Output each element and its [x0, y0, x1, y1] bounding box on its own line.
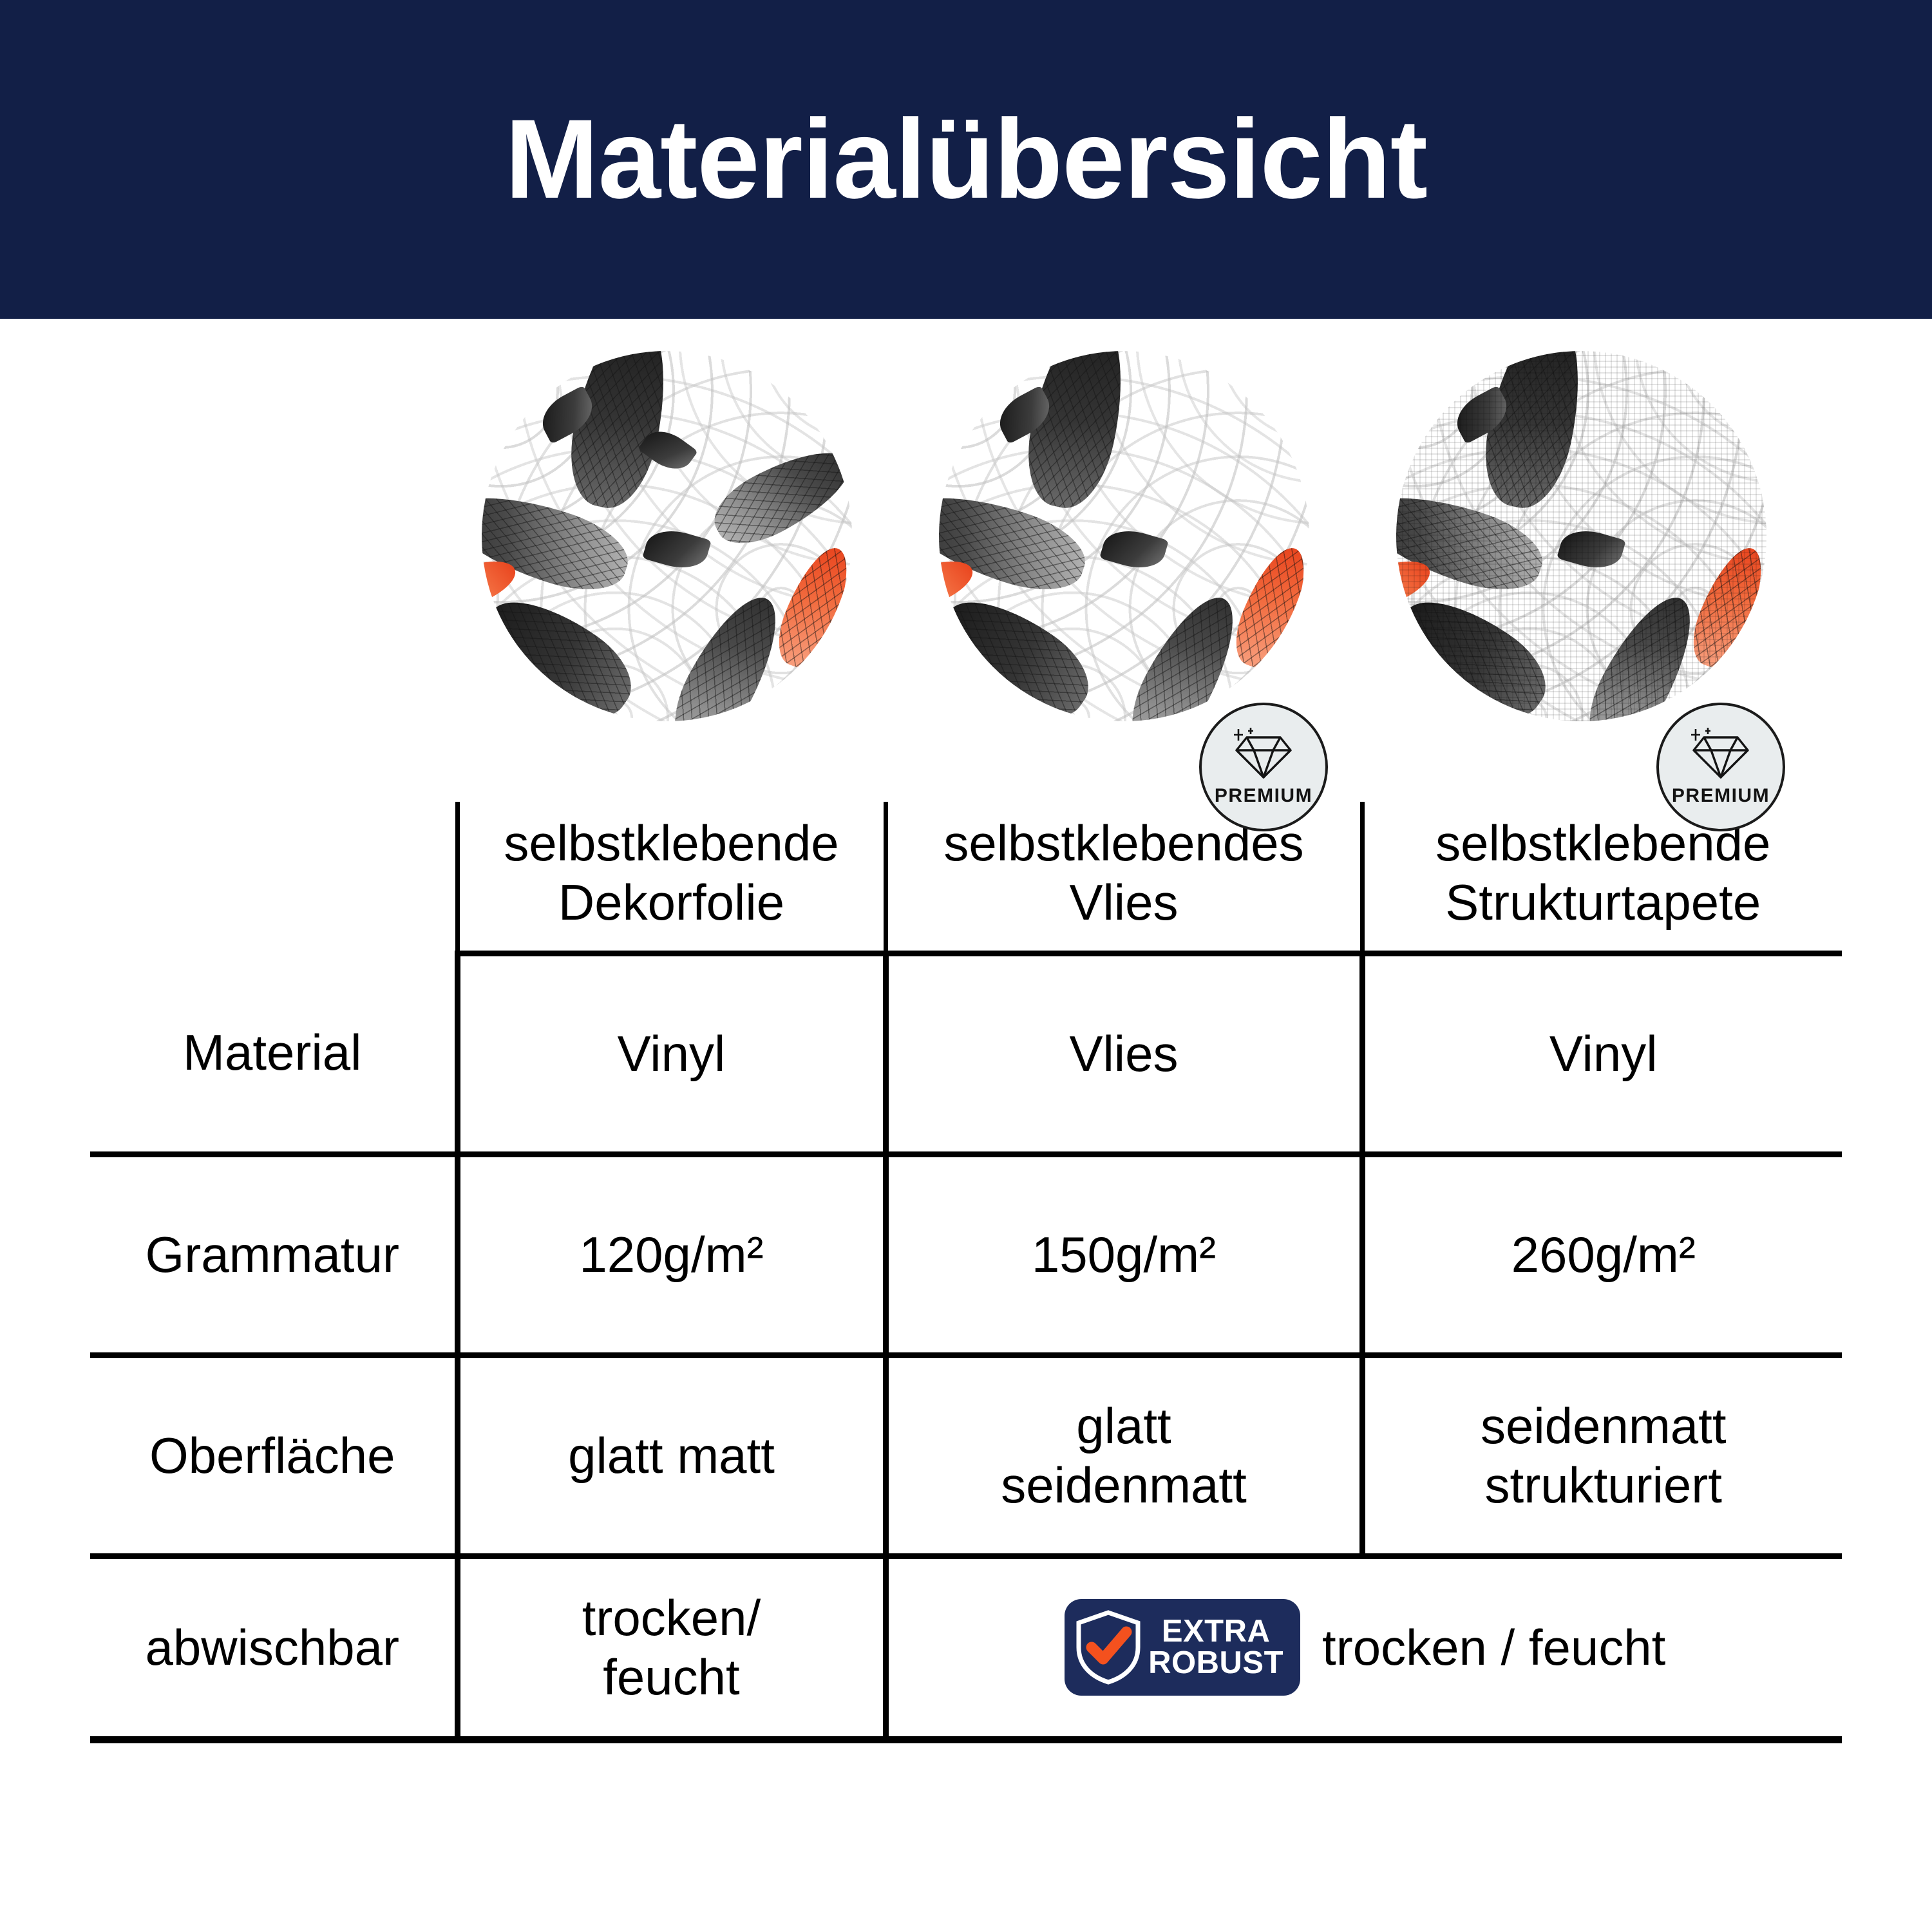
extra-robust-text: EXTRA ROBUST	[1148, 1616, 1283, 1679]
cell-line1: trocken/	[469, 1588, 874, 1647]
diamond-icon	[1233, 727, 1294, 781]
swatch-strukturtapete[interactable]	[1396, 351, 1766, 721]
cell-line1: glatt	[898, 1396, 1350, 1455]
premium-badge-label: PREMIUM	[1672, 785, 1770, 807]
table-row-material: Material Vinyl Vlies Vinyl	[90, 953, 1842, 1154]
cell-line2: seidenmatt	[898, 1455, 1350, 1515]
swatch-vlies[interactable]	[939, 351, 1309, 721]
cell-material-vlies: Vlies	[885, 953, 1362, 1154]
column-header-line2: Vlies	[897, 873, 1351, 932]
column-header-dekorfolie: selbstklebende Dekorfolie	[457, 802, 885, 953]
badge-line1: EXTRA	[1148, 1616, 1283, 1647]
page-title: Materialübersicht	[505, 103, 1427, 216]
koi-pattern-artwork	[482, 351, 852, 721]
column-header-line1: selbstklebende	[469, 813, 875, 873]
cell-grammatur-dekorfolie: 120g/m²	[457, 1154, 885, 1355]
diamond-icon	[1690, 727, 1752, 781]
koi-pattern-artwork	[1396, 351, 1766, 721]
row-label-material: Material	[90, 953, 457, 1154]
swatch-dekorfolie[interactable]	[482, 351, 852, 721]
cell-line1: seidenmatt	[1374, 1396, 1833, 1455]
table-row-grammatur: Grammatur 120g/m² 150g/m² 260g/m²	[90, 1154, 1842, 1355]
cell-oberflaeche-vlies: glatt seidenmatt	[885, 1355, 1362, 1556]
premium-badge-vlies: PREMIUM	[1199, 703, 1328, 831]
cell-abwischbar-merged-text: trocken / feucht	[1322, 1618, 1665, 1677]
cell-line1: glatt matt	[469, 1426, 874, 1485]
material-swatch-row: PREMIUM PREMIUM	[0, 319, 1932, 770]
premium-badge-strukturtapete: PREMIUM	[1656, 703, 1785, 831]
column-header-line2: Dekorfolie	[469, 873, 875, 932]
spec-table: selbstklebende Dekorfolie selbstklebende…	[90, 802, 1842, 1743]
cell-abwischbar-dekorfolie: trocken/ feucht	[457, 1556, 885, 1739]
cell-grammatur-vlies: 150g/m²	[885, 1154, 1362, 1355]
table-row-abwischbar: abwischbar trocken/ feucht	[90, 1556, 1842, 1739]
badge-line2: ROBUST	[1148, 1647, 1283, 1679]
cell-material-strukturtapete: Vinyl	[1362, 953, 1842, 1154]
row-label-abwischbar: abwischbar	[90, 1556, 457, 1739]
shield-check-icon	[1075, 1610, 1142, 1685]
extra-robust-badge: EXTRA ROBUST	[1065, 1599, 1300, 1696]
cell-oberflaeche-dekorfolie: glatt matt	[457, 1355, 885, 1556]
koi-pattern-artwork	[939, 351, 1309, 721]
cell-oberflaeche-strukturtapete: seidenmatt strukturiert	[1362, 1355, 1842, 1556]
table-header-row: selbstklebende Dekorfolie selbstklebende…	[90, 802, 1842, 953]
cell-line2: strukturiert	[1374, 1455, 1833, 1515]
row-label-grammatur: Grammatur	[90, 1154, 457, 1355]
column-header-line1: selbstklebende	[1374, 813, 1833, 873]
column-header-strukturtapete: selbstklebende Strukturtapete	[1362, 802, 1842, 953]
cell-material-dekorfolie: Vinyl	[457, 953, 885, 1154]
row-label-oberflaeche: Oberfläche	[90, 1355, 457, 1556]
premium-badge-label: PREMIUM	[1215, 785, 1312, 807]
table-row-oberflaeche: Oberfläche glatt matt glatt seidenmatt s…	[90, 1355, 1842, 1556]
cell-abwischbar-merged: EXTRA ROBUST trocken / feucht	[885, 1556, 1842, 1739]
structured-texture-overlay	[1396, 351, 1766, 721]
material-spec-table: selbstklebende Dekorfolie selbstklebende…	[90, 802, 1842, 1743]
page-header: Materialübersicht	[0, 0, 1932, 319]
cell-line2: feucht	[469, 1647, 874, 1707]
cell-grammatur-strukturtapete: 260g/m²	[1362, 1154, 1842, 1355]
column-header-line2: Strukturtapete	[1374, 873, 1833, 932]
header-corner-empty	[90, 802, 457, 953]
